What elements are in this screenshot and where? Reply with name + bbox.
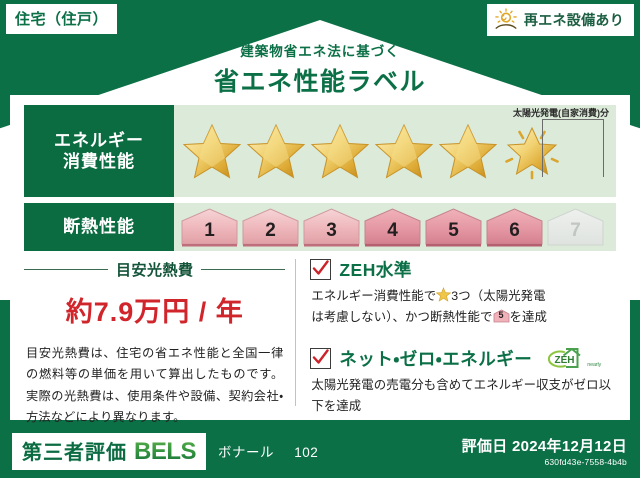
zeh-house-icon: ZEH bbox=[544, 346, 586, 370]
property-info: ボナール 102 bbox=[218, 441, 318, 461]
heading-rule-left bbox=[24, 269, 108, 270]
criterion-net-zero: ネット・ゼロ・エネルギー ZEH nearly bbox=[310, 346, 616, 371]
evaluation-info: 評価日 2024年12月12日 630fd43e-7558-4b4b bbox=[462, 435, 627, 467]
criterion-zeh-standard: ZEH水準 bbox=[310, 257, 616, 282]
insulation-level-5-value: 5 bbox=[424, 220, 483, 242]
insulation-level-7: 7 bbox=[546, 207, 605, 247]
insulation-performance-row: 断熱性能 bbox=[24, 203, 616, 251]
energy-performance-label: 住宅（住戸） 再エネ設備あり 建築物省エネ法に基づく 省エネ性能ラベル bbox=[0, 0, 640, 478]
label-card: エネルギー 消費性能 bbox=[10, 95, 630, 420]
criterion-net-zero-description: 太陽光発電の売電分も含めてエネルギー収支がゼロ以下を達成 bbox=[311, 375, 616, 418]
svg-text:ZEH: ZEH bbox=[555, 355, 575, 366]
energy-performance-label-panel: エネルギー 消費性能 bbox=[24, 105, 174, 197]
label-title-sub: 建築物省エネ法に基づく bbox=[0, 40, 640, 60]
solar-bracket-marker bbox=[542, 119, 604, 177]
evaluation-id: 630fd43e-7558-4b4b bbox=[462, 457, 627, 467]
insulation-level-6-value: 6 bbox=[485, 220, 544, 242]
energy-label-line2: 消費性能 bbox=[54, 151, 144, 172]
insulation-level-3-value: 3 bbox=[302, 220, 361, 242]
star-icon-5 bbox=[436, 120, 500, 182]
label-title: 建築物省エネ法に基づく 省エネ性能ラベル bbox=[0, 40, 640, 98]
insulation-level-icon-value: 5 bbox=[493, 311, 510, 320]
check-icon bbox=[312, 260, 329, 277]
criterion-net-zero-block: ネット・ゼロ・エネルギー ZEH nearly 太陽光発電の売電分も含めてエネル… bbox=[310, 346, 616, 418]
star-icon-3 bbox=[308, 120, 372, 182]
heading-rule-right bbox=[201, 269, 285, 270]
utility-cost-heading-text: 目安光熱費 bbox=[116, 259, 194, 280]
insulation-level-7-value: 7 bbox=[546, 220, 605, 242]
insulation-level-6: 6 bbox=[485, 207, 544, 247]
insulation-levels-area: 1 2 3 bbox=[174, 203, 616, 251]
renewable-energy-badge: 再エネ設備あり bbox=[487, 4, 634, 36]
solar-self-consumption-note: 太陽光発電(自家消費)分 bbox=[513, 106, 609, 119]
criterion-zeh-title: ZEH水準 bbox=[339, 257, 412, 282]
building-type-tag: 住宅（住戸） bbox=[6, 4, 117, 34]
star-icon-2 bbox=[244, 120, 308, 182]
check-icon bbox=[312, 349, 329, 366]
bels-logo-block: 第三者評価 BELS bbox=[12, 433, 206, 470]
criterion-zeh-desc-part1: エネルギー消費性能で bbox=[311, 289, 436, 303]
criteria-column: ZEH水準 エネルギー消費性能で3つ（太陽光発電 は考慮しない）、かつ断熱性能で… bbox=[310, 255, 616, 410]
insulation-level-1-value: 1 bbox=[180, 220, 239, 242]
star-icon-4 bbox=[372, 120, 436, 182]
criterion-net-zero-title: ネット・ゼロ・エネルギー bbox=[339, 346, 532, 371]
property-unit: 102 bbox=[294, 445, 318, 460]
criterion-zeh-desc-part3: を達成 bbox=[510, 310, 547, 324]
utility-cost-value: 約7.9万円 / 年 bbox=[24, 290, 285, 329]
zeh-logo: ZEH nearly bbox=[544, 346, 601, 370]
insulation-level-2-value: 2 bbox=[241, 220, 300, 242]
label-lower-section: 目安光熱費 約7.9万円 / 年 目安光熱費は、住宅の省エネ性能と全国一律の燃料… bbox=[24, 255, 616, 410]
criterion-zeh-description: エネルギー消費性能で3つ（太陽光発電 は考慮しない）、かつ断熱性能で5を達成 bbox=[311, 286, 616, 329]
insulation-level-scale: 1 2 3 bbox=[174, 207, 605, 247]
renewable-badge-label: 再エネ設備あり bbox=[524, 10, 624, 30]
energy-performance-row: エネルギー 消費性能 bbox=[24, 105, 616, 197]
utility-cost-column: 目安光熱費 約7.9万円 / 年 目安光熱費は、住宅の省エネ性能と全国一律の燃料… bbox=[24, 255, 285, 410]
insulation-level-5: 5 bbox=[424, 207, 483, 247]
star-rating bbox=[174, 120, 564, 182]
label-title-main: 省エネ性能ラベル bbox=[0, 62, 640, 98]
energy-label-line1: エネルギー bbox=[54, 130, 144, 151]
criterion-zeh-desc-star: 3つ（太陽光発電 bbox=[451, 289, 545, 303]
energy-stars-area: 太陽光発電(自家消費)分 bbox=[174, 105, 616, 197]
insulation-performance-label-panel: 断熱性能 bbox=[24, 203, 174, 251]
star-icon-1 bbox=[180, 120, 244, 182]
checkbox-net-zero bbox=[310, 348, 331, 369]
zeh-logo-subtext: nearly bbox=[587, 362, 601, 370]
insulation-level-1: 1 bbox=[180, 207, 239, 247]
label-footer: 第三者評価 BELS ボナール 102 評価日 2024年12月12日 630f… bbox=[0, 424, 640, 478]
evaluation-date: 評価日 2024年12月12日 bbox=[462, 435, 627, 456]
utility-cost-note: 目安光熱費は、住宅の省エネ性能と全国一律の燃料等の単価を用いて算出したものです。… bbox=[24, 343, 285, 428]
bels-prefix: 第三者評価 bbox=[22, 436, 127, 465]
utility-cost-heading: 目安光熱費 bbox=[24, 259, 285, 280]
insulation-level-3: 3 bbox=[302, 207, 361, 247]
insulation-level-icon: 5 bbox=[493, 309, 510, 323]
insulation-level-4-value: 4 bbox=[363, 220, 422, 242]
bels-logo-text: BELS bbox=[134, 438, 196, 466]
insulation-level-2: 2 bbox=[241, 207, 300, 247]
property-name: ボナール bbox=[218, 445, 274, 460]
column-divider bbox=[295, 259, 296, 406]
insulation-level-4: 4 bbox=[363, 207, 422, 247]
sun-icon bbox=[493, 7, 519, 33]
checkbox-zeh-standard bbox=[310, 259, 331, 280]
criterion-zeh-desc-part2: は考慮しない）、かつ断熱性能で bbox=[311, 310, 492, 324]
mini-star-icon bbox=[436, 287, 451, 302]
